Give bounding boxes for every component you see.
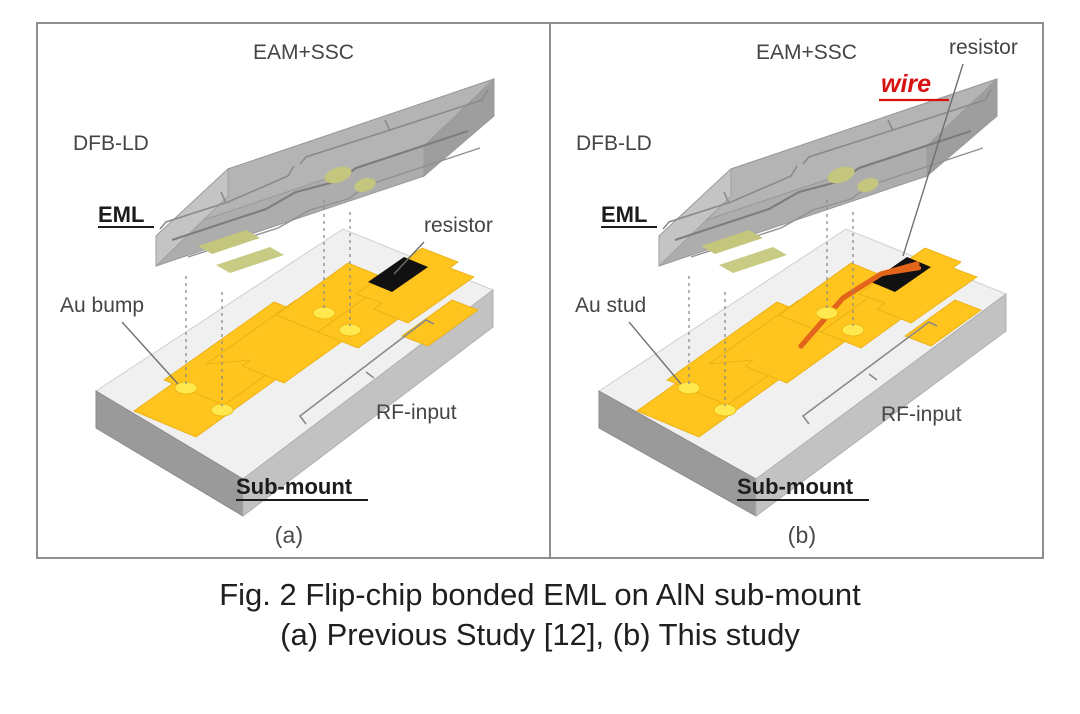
- label-wire-b: wire: [881, 70, 931, 98]
- label-eam-ssc-a: EAM+SSC: [253, 41, 354, 64]
- label-resistor-a: resistor: [424, 214, 493, 237]
- label-eam-ssc-b: EAM+SSC: [756, 41, 857, 64]
- panel-b-diagram: DFB-LD EAM+SSC EML: [551, 24, 1053, 557]
- label-au-stud-b: Au stud: [575, 294, 646, 317]
- label-submount-b: Sub-mount: [737, 474, 854, 499]
- label-resistor-b: resistor: [949, 36, 1018, 59]
- label-dfb-ld-a: DFB-LD: [73, 132, 149, 155]
- label-au-bump-a: Au bump: [60, 294, 144, 317]
- panel-a: DFB-LD EAM+SSC EML: [38, 24, 540, 557]
- label-eml-b: EML: [601, 202, 647, 227]
- label-rf-input-b: RF-input: [881, 403, 962, 426]
- figure-panel-frame: DFB-LD EAM+SSC EML: [36, 22, 1044, 559]
- panel-caption-b: (b): [551, 522, 1053, 549]
- panel-b: DFB-LD EAM+SSC EML: [551, 24, 1053, 557]
- figure-caption-line-2: (a) Previous Study [12], (b) This study: [0, 615, 1080, 655]
- figure-caption-line-1: Fig. 2 Flip-chip bonded EML on AlN sub-m…: [0, 575, 1080, 615]
- label-rf-input-a: RF-input: [376, 401, 457, 424]
- label-submount-a: Sub-mount: [236, 474, 353, 499]
- figure-caption: Fig. 2 Flip-chip bonded EML on AlN sub-m…: [0, 575, 1080, 654]
- label-eml-a: EML: [98, 202, 144, 227]
- figure-root: DFB-LD EAM+SSC EML: [0, 0, 1080, 714]
- label-dfb-ld-b: DFB-LD: [576, 132, 652, 155]
- panel-caption-a: (a): [38, 522, 540, 549]
- panel-a-diagram: DFB-LD EAM+SSC EML: [38, 24, 540, 557]
